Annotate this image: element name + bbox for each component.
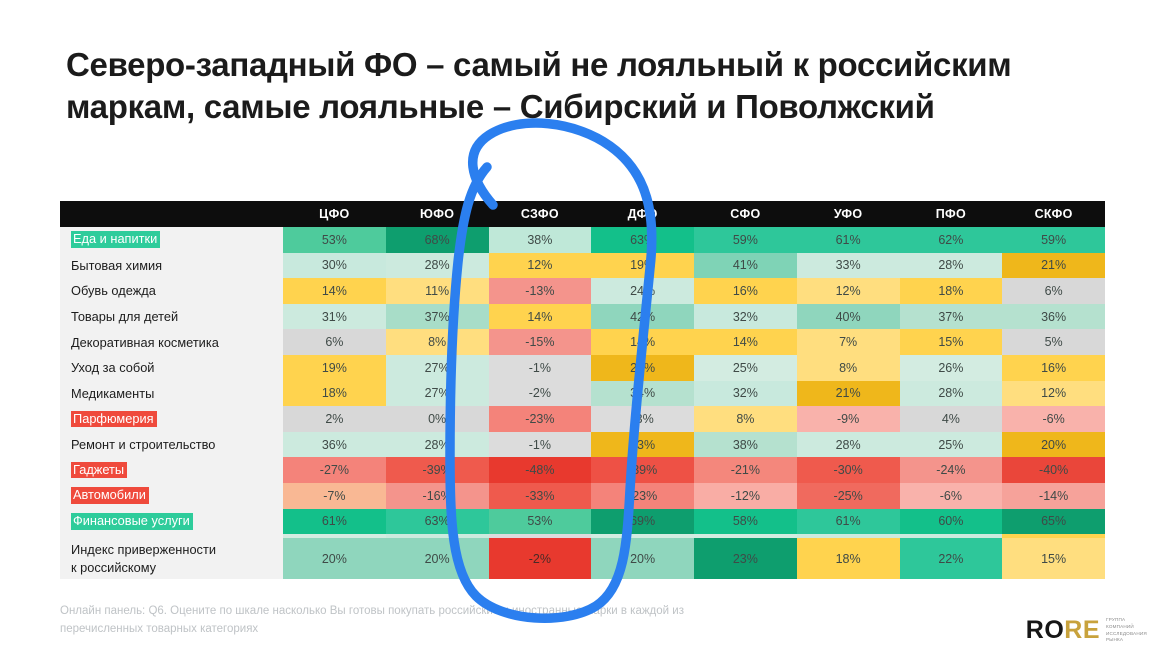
table-row: Медикаменты18%27%-2%34%32%21%28%12% — [60, 381, 1105, 407]
column-header-пфо: ПФО — [900, 201, 1003, 227]
row-label: Уход за собой — [60, 355, 283, 381]
heat-cell: 37% — [386, 304, 489, 330]
heat-cell: 18% — [283, 381, 386, 407]
heat-cell: 14% — [591, 329, 694, 355]
heat-cell: -23% — [489, 406, 592, 432]
heat-cell: 37% — [900, 304, 1003, 330]
heat-cell: 18% — [900, 278, 1003, 304]
heat-cell: 36% — [1002, 304, 1105, 330]
heat-cell: 16% — [694, 278, 797, 304]
heat-cell: 41% — [694, 253, 797, 279]
row-label: Гаджеты — [60, 457, 283, 483]
row-label: Медикаменты — [60, 381, 283, 407]
heat-cell: 62% — [900, 227, 1003, 253]
heat-cell: 61% — [797, 227, 900, 253]
heat-cell: -21% — [694, 457, 797, 483]
heat-cell: 28% — [386, 253, 489, 279]
heat-cell: 4% — [900, 406, 1003, 432]
heat-cell: 12% — [797, 278, 900, 304]
heat-cell: 31% — [283, 304, 386, 330]
heat-cell: 6% — [1002, 278, 1105, 304]
heat-cell: 25% — [694, 355, 797, 381]
heat-cell: -6% — [900, 483, 1003, 509]
row-label: Обувь одежда — [60, 278, 283, 304]
heat-cell: 11% — [386, 278, 489, 304]
row-label-highlight: Автомобили — [71, 487, 149, 504]
heat-cell: 38% — [489, 227, 592, 253]
heat-cell: 42% — [591, 304, 694, 330]
heat-cell: 68% — [386, 227, 489, 253]
index-cell: 20% — [591, 538, 694, 579]
logo-wordmark: RORE — [1026, 618, 1100, 643]
table-header-row: ЦФОЮФОСЗФОДФОСФОУФОПФОСКФО — [60, 201, 1105, 227]
column-header-уфо: УФО — [797, 201, 900, 227]
heat-cell: -2% — [489, 381, 592, 407]
table-row: Парфюмерия2%0%-23%-3%8%-9%4%-6% — [60, 406, 1105, 432]
heat-cell: 8% — [694, 406, 797, 432]
index-label-line-1: Индекс приверженности — [71, 541, 283, 558]
heat-cell: 25% — [900, 432, 1003, 458]
row-label-highlight: Гаджеты — [71, 462, 127, 479]
heat-cell: 65% — [1002, 509, 1105, 535]
heat-cell: 34% — [591, 381, 694, 407]
heat-cell: 26% — [900, 355, 1003, 381]
heat-cell: 28% — [900, 253, 1003, 279]
index-cell: 20% — [386, 538, 489, 579]
heat-cell: 30% — [283, 253, 386, 279]
index-cell: 18% — [797, 538, 900, 579]
heat-cell: 53% — [489, 509, 592, 535]
heat-cell: -12% — [694, 483, 797, 509]
heat-cell: -15% — [489, 329, 592, 355]
table-corner-cell — [60, 201, 283, 227]
heat-cell: -40% — [1002, 457, 1105, 483]
heat-cell: -6% — [1002, 406, 1105, 432]
heat-cell: 8% — [797, 355, 900, 381]
heat-cell: 28% — [900, 381, 1003, 407]
row-label: Финансовые услуги — [60, 509, 283, 535]
column-header-скфо: СКФО — [1002, 201, 1105, 227]
heat-cell: 23% — [591, 432, 694, 458]
table-row: Уход за собой19%27%-1%21%25%8%26%16% — [60, 355, 1105, 381]
row-label-highlight: Финансовые услуги — [71, 513, 193, 530]
row-label: Декоративная косметика — [60, 329, 283, 355]
heat-cell: 2% — [283, 406, 386, 432]
heat-cell: 53% — [283, 227, 386, 253]
heatmap-table-wrap: ЦФОЮФОСЗФОДФОСФОУФОПФОСКФО Еда и напитки… — [60, 201, 1105, 560]
index-body: Индекс приверженностик российскому20%20%… — [60, 538, 1105, 579]
heat-cell: -39% — [591, 457, 694, 483]
index-cell: -2% — [489, 538, 592, 579]
heat-cell: -14% — [1002, 483, 1105, 509]
heat-cell: 33% — [797, 253, 900, 279]
column-header-юфо: ЮФО — [386, 201, 489, 227]
heat-cell: -33% — [489, 483, 592, 509]
table-row: Товары для детей31%37%14%42%32%40%37%36% — [60, 304, 1105, 330]
heat-cell: 12% — [489, 253, 592, 279]
footnote: Онлайн панель: Q6. Оцените по шкале наск… — [60, 603, 760, 639]
column-header-сфо: СФО — [694, 201, 797, 227]
heat-cell: -1% — [489, 432, 592, 458]
heat-cell: 58% — [694, 509, 797, 535]
row-label: Ремонт и строительство — [60, 432, 283, 458]
heat-cell: -25% — [797, 483, 900, 509]
index-row-wrap: Индекс приверженностик российскому20%20%… — [60, 538, 1105, 579]
table-row: Гаджеты-27%-39%-48%-39%-21%-30%-24%-40% — [60, 457, 1105, 483]
column-header-сзфо: СЗФО — [489, 201, 592, 227]
heat-cell: 28% — [797, 432, 900, 458]
heat-cell: 14% — [489, 304, 592, 330]
column-header-цфо: ЦФО — [283, 201, 386, 227]
row-label: Бытовая химия — [60, 253, 283, 279]
table-row: Бытовая химия30%28%12%19%41%33%28%21% — [60, 253, 1105, 279]
heat-cell: 60% — [900, 509, 1003, 535]
index-table: Индекс приверженностик российскому20%20%… — [60, 538, 1105, 579]
heat-cell: 8% — [386, 329, 489, 355]
heat-cell: -7% — [283, 483, 386, 509]
table-row: Финансовые услуги61%63%53%69%58%61%60%65… — [60, 509, 1105, 535]
slide-root: Северо-западный ФО – самый не лояльный к… — [0, 0, 1170, 658]
heat-cell: 19% — [591, 253, 694, 279]
heatmap-table: ЦФОЮФОСЗФОДФОСФОУФОПФОСКФО Еда и напитки… — [60, 201, 1105, 560]
heat-cell: 59% — [694, 227, 797, 253]
heat-cell: -9% — [797, 406, 900, 432]
row-label: Парфюмерия — [60, 406, 283, 432]
index-cell: 20% — [283, 538, 386, 579]
row-label: Еда и напитки — [60, 227, 283, 253]
heat-cell: 14% — [694, 329, 797, 355]
heat-cell: 40% — [797, 304, 900, 330]
heat-cell: 5% — [1002, 329, 1105, 355]
heat-cell: 69% — [591, 509, 694, 535]
heat-cell: 20% — [1002, 432, 1105, 458]
heat-cell: 38% — [694, 432, 797, 458]
logo-subtitle: группа компаний исследования рынка — [1106, 617, 1148, 644]
column-header-дфо: ДФО — [591, 201, 694, 227]
heat-cell: 19% — [283, 355, 386, 381]
rore-logo: RORE группа компаний исследования рынка — [1026, 617, 1148, 644]
logo-part-1: RO — [1026, 616, 1065, 644]
index-cell: 15% — [1002, 538, 1105, 579]
heat-cell: 7% — [797, 329, 900, 355]
heat-cell: 16% — [1002, 355, 1105, 381]
heat-cell: 61% — [797, 509, 900, 535]
heat-cell: 32% — [694, 381, 797, 407]
index-cell: 23% — [694, 538, 797, 579]
heat-cell: 12% — [1002, 381, 1105, 407]
heat-cell: -16% — [386, 483, 489, 509]
heat-cell: 63% — [386, 509, 489, 535]
heat-cell: -27% — [283, 457, 386, 483]
heat-cell: 15% — [900, 329, 1003, 355]
heat-cell: -13% — [489, 278, 592, 304]
heat-cell: 61% — [283, 509, 386, 535]
heat-cell: 6% — [283, 329, 386, 355]
table-row: Автомобили-7%-16%-33%-23%-12%-25%-6%-14% — [60, 483, 1105, 509]
heat-cell: -30% — [797, 457, 900, 483]
heat-cell: 21% — [1002, 253, 1105, 279]
heat-cell: 0% — [386, 406, 489, 432]
row-label: Товары для детей — [60, 304, 283, 330]
heat-cell: -1% — [489, 355, 592, 381]
table-row: Декоративная косметика6%8%-15%14%14%7%15… — [60, 329, 1105, 355]
page-title: Северо-западный ФО – самый не лояльный к… — [66, 44, 1126, 128]
row-label-highlight: Парфюмерия — [71, 411, 157, 428]
heat-cell: 59% — [1002, 227, 1105, 253]
index-label-line-2: к российскому — [71, 559, 283, 576]
heat-cell: 36% — [283, 432, 386, 458]
index-cell: 22% — [900, 538, 1003, 579]
heat-cell: 27% — [386, 381, 489, 407]
row-label: Автомобили — [60, 483, 283, 509]
logo-part-2: RE — [1064, 616, 1100, 644]
heat-cell: 32% — [694, 304, 797, 330]
heat-cell: -23% — [591, 483, 694, 509]
heat-cell: -24% — [900, 457, 1003, 483]
heat-cell: 14% — [283, 278, 386, 304]
heat-cell: -3% — [591, 406, 694, 432]
heat-cell: 24% — [591, 278, 694, 304]
table-row: Ремонт и строительство36%28%-1%23%38%28%… — [60, 432, 1105, 458]
table-row: Еда и напитки53%68%38%63%59%61%62%59% — [60, 227, 1105, 253]
table-row: Обувь одежда14%11%-13%24%16%12%18%6% — [60, 278, 1105, 304]
heat-cell: -39% — [386, 457, 489, 483]
index-row: Индекс приверженностик российскому20%20%… — [60, 538, 1105, 579]
heat-cell: 28% — [386, 432, 489, 458]
heat-cell: 27% — [386, 355, 489, 381]
index-row-label: Индекс приверженностик российскому — [60, 538, 283, 579]
heatmap-body: Еда и напитки53%68%38%63%59%61%62%59%Быт… — [60, 227, 1105, 560]
heat-cell: 21% — [797, 381, 900, 407]
heat-cell: 21% — [591, 355, 694, 381]
row-label-highlight: Еда и напитки — [71, 231, 160, 248]
heat-cell: 63% — [591, 227, 694, 253]
heat-cell: -48% — [489, 457, 592, 483]
